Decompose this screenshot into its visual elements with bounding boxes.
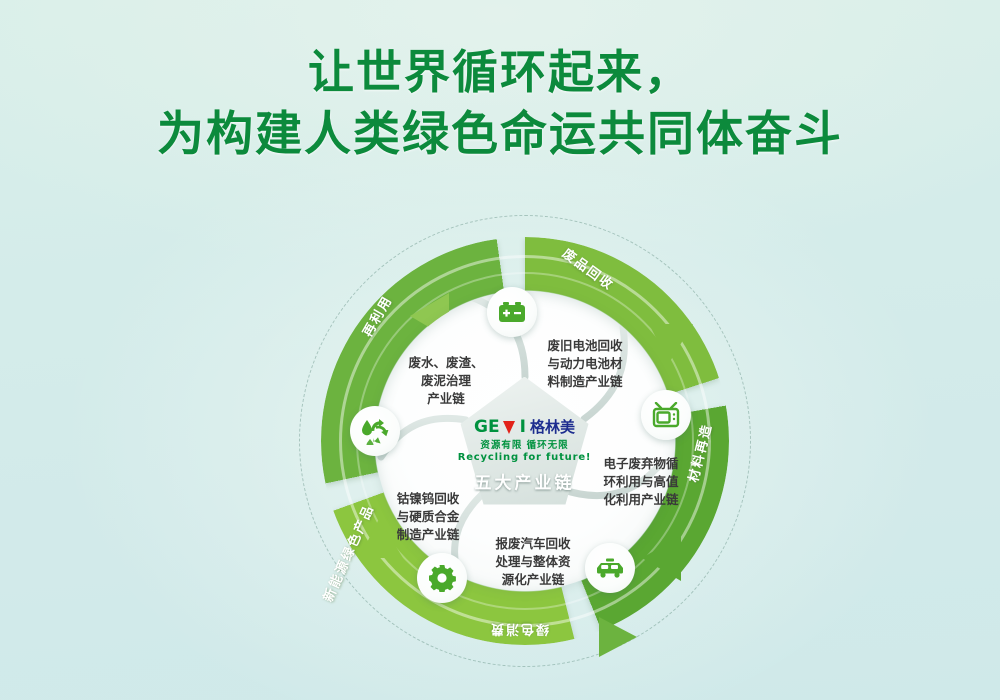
circular-economy-diagram: GE I 格林美 资源有限 循环无限 Recycling for future!… [297, 213, 752, 668]
sector-label-alloy-chain: 钴镍钨回收 与硬质合金 制造产业链 [372, 490, 484, 544]
title-line-2: 为构建人类绿色命运共同体奋斗 [0, 104, 1000, 167]
television-glyph [652, 402, 680, 428]
gear-glyph [428, 564, 456, 592]
water-recycle-glyph [360, 417, 390, 445]
ring-label-green-consume: 绿色消费 [489, 621, 549, 640]
page-title: 让世界循环起来， 为构建人类绿色命运共同体奋斗 [0, 42, 1000, 167]
car-glyph [595, 558, 625, 578]
sector-label-battery-chain: 废旧电池回收 与动力电池材 料制造产业链 [529, 337, 641, 391]
television-icon[interactable] [641, 390, 691, 440]
battery-icon[interactable] [487, 287, 537, 337]
sector-label-waterwaste-chain: 废水、废渣、 废泥治理 产业链 [390, 354, 502, 408]
sector-label-ewaste-chain: 电子废弃物循 环利用与高值 化利用产业链 [585, 455, 697, 509]
battery-glyph [498, 301, 526, 323]
gear-icon[interactable] [417, 553, 467, 603]
car-icon[interactable] [585, 543, 635, 593]
title-line-1: 让世界循环起来， [0, 42, 1000, 104]
sector-label-vehicle-chain: 报废汽车回收 处理与整体资 源化产业链 [477, 535, 589, 589]
water-recycle-icon[interactable] [350, 406, 400, 456]
